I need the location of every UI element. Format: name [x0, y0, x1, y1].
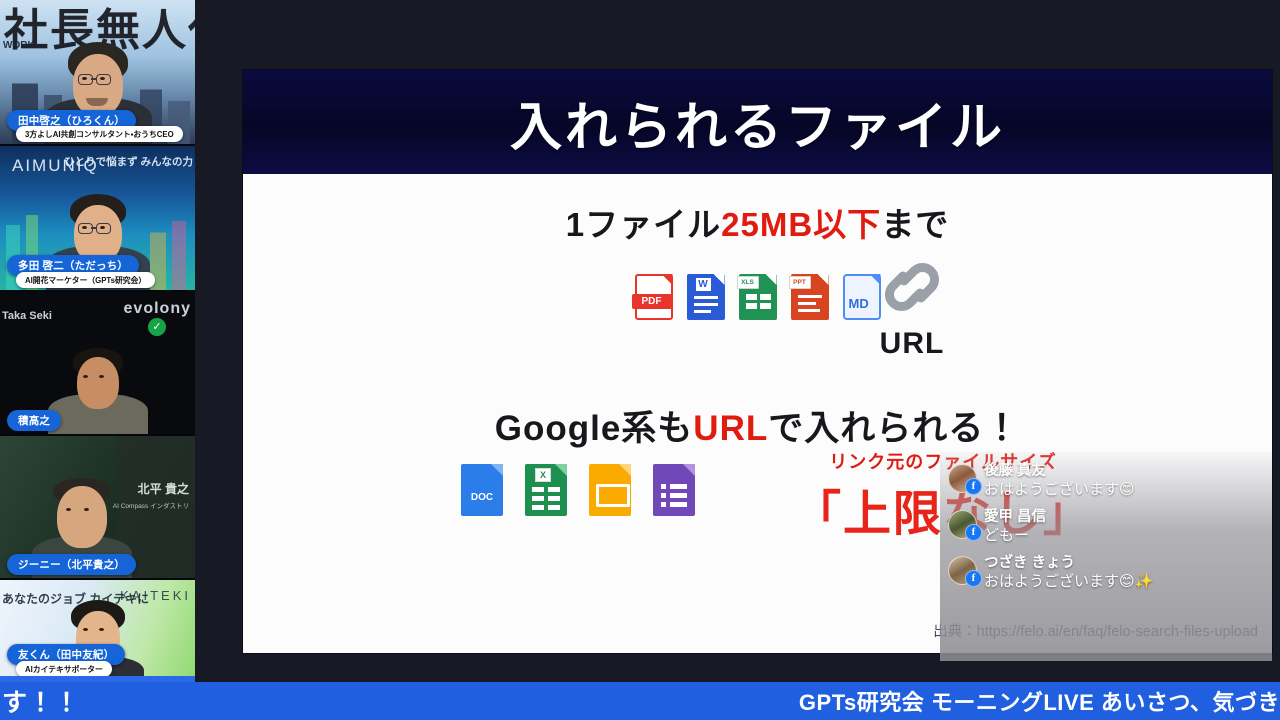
- live-stream-canvas: 社長無人化 WORK 田中啓之（ひろくん） 3方よしAI共創コンサルタント・おう…: [0, 0, 1280, 720]
- face: [57, 486, 107, 548]
- google-icon-row: DOC X: [461, 464, 695, 516]
- participant-rail: 社長無人化 WORK 田中啓之（ひろくん） 3方よしAI共創コンサルタント・おう…: [0, 0, 195, 682]
- participant-tile[interactable]: AIMUNIQ ひとりで悩まず みんなの力 多田 啓二（ただっち） AI開花マー…: [0, 146, 195, 292]
- ticker-right-text: GPTs研究会 モーニングLIVE あいさつ、気づき: [799, 685, 1280, 717]
- tile-bg-text-secondary: WORK: [3, 40, 35, 51]
- google-sheets-label: X: [535, 468, 551, 482]
- participant-tile[interactable]: 北平 貴之 AI Compass インダストリ ジーニー（北平貴之）: [0, 436, 195, 580]
- eye-left: [66, 508, 71, 511]
- file-type-icon-row: PDF W XLS: [243, 274, 1280, 320]
- powerpoint-label: PPT: [789, 276, 811, 289]
- eye-left: [82, 77, 87, 80]
- google-headline: Google系もURLで入れられる！: [243, 400, 1272, 451]
- eye-left: [83, 375, 88, 378]
- link-chain-icon: [873, 256, 951, 318]
- eye-right: [100, 226, 105, 229]
- eye-right: [99, 628, 104, 631]
- url-label: URL: [847, 327, 977, 361]
- tile-bg-text-secondary: ひとりで悩まず みんなの力: [64, 154, 193, 169]
- eye-right: [100, 77, 105, 80]
- pdf-file-icon: PDF: [635, 274, 673, 320]
- live-chat-overlay: f 後藤 真友 おはようございます😊 f 愛甲 昌信 どもー f つざき きょう…: [940, 452, 1272, 661]
- face: [73, 54, 123, 116]
- chat-text: おはようございます😊✨: [984, 572, 1262, 591]
- facebook-badge-icon: f: [965, 524, 982, 541]
- facebook-badge-icon: f: [965, 570, 982, 587]
- participant-subtitle-badge: 3方よしAI共創コンサルタント・おうちCEO: [16, 126, 183, 142]
- slide-header: 入れられるファイル: [243, 70, 1272, 174]
- file-size-headline: 1ファイル25MB以下まで: [243, 198, 1272, 246]
- tile-bg-text: 北平 貴之: [138, 480, 189, 497]
- eyeglasses-bridge: [91, 78, 96, 80]
- google-docs-icon: DOC: [461, 464, 503, 516]
- head: [52, 478, 112, 554]
- participant-tile[interactable]: 社長無人化 WORK 田中啓之（ひろくん） 3方よしAI共創コンサルタント・おう…: [0, 0, 195, 146]
- chat-author: つざき きょう: [984, 554, 1262, 572]
- google-headline-pre: Google系も: [495, 409, 694, 448]
- participant-name-badge: ジーニー（北平貴之）: [7, 554, 136, 575]
- facebook-badge-icon: f: [965, 478, 982, 495]
- file-size-highlight: 25MB以下: [721, 206, 881, 243]
- file-size-headline-post: まで: [881, 206, 949, 243]
- eye-left: [83, 628, 88, 631]
- participant-name-badge: 積高之: [7, 410, 61, 431]
- google-docs-label: DOC: [465, 492, 499, 503]
- chat-author: 愛甲 昌信: [984, 508, 1262, 526]
- chat-text: どもー: [984, 526, 1262, 545]
- tile-bg-text: evolony: [124, 300, 191, 318]
- file-size-headline-pre: 1ファイル: [566, 206, 721, 243]
- chat-message: f つざき きょう おはようございます😊✨: [940, 552, 1272, 598]
- eye-left: [82, 226, 87, 229]
- google-headline-post: で入れられる！: [768, 409, 1020, 448]
- eye-right: [99, 375, 104, 378]
- chat-message: f 愛甲 昌信 どもー: [940, 506, 1272, 552]
- chat-message: f 後藤 真友 おはようございます😊: [940, 460, 1272, 506]
- word-label: W: [696, 278, 711, 291]
- eye-right: [84, 508, 89, 511]
- excel-label: XLS: [737, 276, 759, 289]
- chat-text: おはようございます😊: [984, 480, 1262, 499]
- excel-file-icon: XLS: [739, 274, 777, 320]
- powerpoint-file-icon: PPT: [791, 274, 829, 320]
- word-file-icon: W: [687, 274, 725, 320]
- head: [67, 42, 129, 120]
- face: [77, 357, 119, 409]
- tile-bg-text-secondary: Taka Seki: [2, 310, 52, 322]
- participant-tile[interactable]: evolony Taka Seki ✓ 積高之: [0, 292, 195, 436]
- ticker-left-text: す！！: [2, 683, 80, 719]
- participant-subtitle-badge: AIカイテキサポーター: [16, 661, 112, 677]
- google-slides-icon: [589, 464, 631, 516]
- participant-subtitle-badge: AI開花マーケター（GPTs研究会）: [16, 272, 155, 288]
- url-block: URL: [847, 256, 977, 361]
- slide-title: 入れられるファイル: [510, 85, 1005, 160]
- google-headline-highlight: URL: [693, 409, 768, 448]
- google-forms-icon: [653, 464, 695, 516]
- pdf-label: PDF: [632, 294, 672, 309]
- chat-author: 後藤 真友: [984, 462, 1262, 480]
- bottom-ticker-bar: す！！ GPTs研究会 モーニングLIVE あいさつ、気づき: [0, 682, 1280, 720]
- google-sheets-icon: X: [525, 464, 567, 516]
- head: [72, 348, 124, 412]
- eyeglasses-bridge: [91, 227, 96, 229]
- verified-check-icon: ✓: [148, 318, 166, 336]
